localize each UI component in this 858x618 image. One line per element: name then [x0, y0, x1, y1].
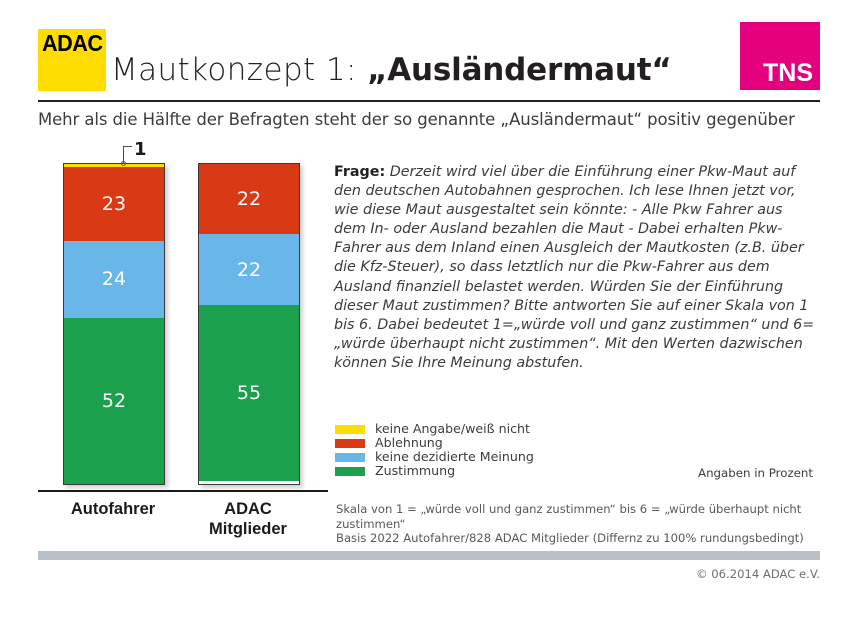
- bar-group-adac-mitglieder: 222255 ADAC Mitglieder: [198, 163, 300, 485]
- bar-segment: 24: [64, 241, 164, 318]
- bar-group-autofahrer: 232452 Autofahrer 1: [63, 163, 165, 485]
- bar-segment-value: 22: [237, 259, 261, 281]
- bar-caption-line1: ADAC: [188, 499, 308, 519]
- bar-segment-value: 55: [237, 382, 261, 404]
- adac-logo: ADAC: [38, 29, 106, 91]
- bar-caption-autofahrer: Autofahrer: [53, 499, 173, 519]
- legend-item[interactable]: keine Angabe/weiß nicht: [335, 422, 635, 436]
- callout-anchor-dot: [121, 161, 126, 166]
- legend-label: Ablehnung: [375, 436, 443, 450]
- callout-value: 1: [134, 139, 147, 160]
- bar-segment-value: 23: [102, 193, 126, 215]
- legend-swatch: [335, 439, 365, 448]
- chart-baseline: [38, 490, 328, 492]
- page-title: Mautkonzept 1: „Ausländermaut“: [111, 52, 672, 88]
- legend-label: keine dezidierte Meinung: [375, 450, 534, 464]
- footnote-line-2: Basis 2022 Autofahrer/828 ADAC Mitgliede…: [336, 531, 836, 546]
- bar-segment: 55: [199, 305, 299, 481]
- question-label: Frage:: [334, 164, 385, 180]
- copyright-notice: © 06.2014 ADAC e.V.: [696, 567, 820, 581]
- adac-logo-wordmark: ADAC: [42, 30, 103, 57]
- footnote-line-1: Skala von 1 = „würde voll und ganz zusti…: [336, 502, 836, 531]
- tns-logo: TNS: [740, 22, 820, 90]
- units-note: Angaben in Prozent: [698, 466, 813, 480]
- bar-caption-text: Autofahrer: [71, 500, 155, 518]
- legend-swatch: [335, 453, 365, 462]
- question-body: Derzeit wird viel über die Einführung ei…: [334, 164, 814, 371]
- tns-logo-wordmark: TNS: [763, 59, 813, 88]
- stacked-bar-chart: 232452 Autofahrer 1 222255 ADAC Mitglied…: [38, 145, 328, 545]
- bar-segment: 22: [199, 164, 299, 234]
- stacked-bar[interactable]: 222255: [198, 163, 300, 485]
- legend-label: keine Angabe/weiß nicht: [375, 422, 530, 436]
- bar-segment-value: 22: [237, 188, 261, 210]
- bar-segment-value: 52: [102, 390, 126, 412]
- legend-item[interactable]: keine dezidierte Meinung: [335, 450, 635, 464]
- bar-segment: 22: [199, 234, 299, 304]
- legend-item[interactable]: Zustimmung: [335, 464, 635, 478]
- bar-segment: 23: [64, 167, 164, 241]
- legend-item[interactable]: Ablehnung: [335, 436, 635, 450]
- legend-swatch: [335, 467, 365, 476]
- page-subtitle: Mehr als die Hälfte der Befragten steht …: [38, 110, 828, 129]
- legend-label: Zustimmung: [375, 464, 455, 478]
- bar-segment: 52: [64, 318, 164, 484]
- bar-segment-value: 24: [102, 268, 126, 290]
- bar-caption-line2: Mitglieder: [188, 519, 308, 539]
- footnotes: Skala von 1 = „würde voll und ganz zusti…: [336, 502, 836, 546]
- chart-legend: keine Angabe/weiß nichtAblehnungkeine de…: [335, 422, 635, 478]
- header-divider: [38, 100, 820, 102]
- question-text-block: Frage: Derzeit wird viel über die Einfüh…: [334, 163, 816, 373]
- legend-swatch: [335, 425, 365, 434]
- page-title-bold: „Ausländermaut“: [367, 52, 672, 88]
- footer-bar: [38, 551, 820, 560]
- bar-caption-adac-mitglieder: ADAC Mitglieder: [188, 499, 308, 539]
- value-callout: 1: [123, 143, 163, 169]
- page-title-light: Mautkonzept 1:: [111, 52, 367, 88]
- stacked-bar[interactable]: 232452: [63, 163, 165, 485]
